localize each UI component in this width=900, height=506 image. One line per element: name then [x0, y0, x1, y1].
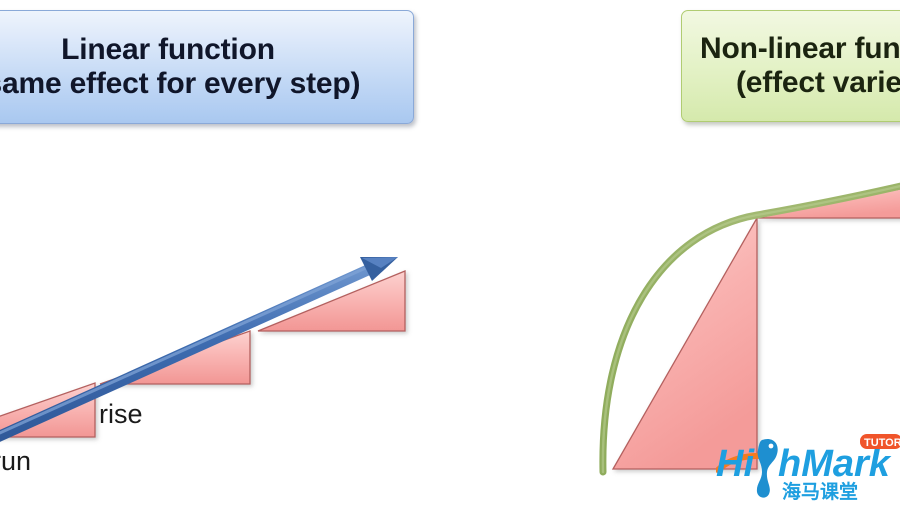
watermark-badge-text: TUTOR: [864, 437, 900, 449]
slide-canvas: Linear function (same effect for every s…: [0, 0, 900, 506]
rise-label: rise: [99, 399, 143, 430]
run-label: run: [0, 446, 31, 477]
watermark-brand-mark: hMark: [778, 443, 892, 485]
callout-nonlinear-line1: Non-linear function: [700, 32, 900, 66]
watermark-brand-high: Hi: [716, 443, 755, 485]
watermark-chinese: 海马课堂: [782, 480, 858, 502]
arrow-head: [360, 257, 398, 281]
nonlinear-slope-triangle-2: [757, 188, 900, 218]
highmark-watermark: Hi hMark TUTOR 海马课堂: [716, 424, 900, 502]
seahorse-icon: [757, 439, 778, 498]
slope-triangle-2: [100, 331, 250, 384]
callout-linear-line1: Linear function: [61, 33, 275, 67]
callout-nonlinear-function: Non-linear function (effect varies): [681, 10, 900, 122]
callout-linear-function: Linear function (same effect for every s…: [0, 10, 414, 124]
callout-linear-line2: (same effect for every step): [0, 67, 360, 101]
slope-triangle-1: [0, 383, 95, 437]
callout-nonlinear-line2: (effect varies): [700, 66, 900, 100]
linear-trend-arrow: [0, 257, 398, 481]
tutor-badge: TUTOR: [860, 434, 900, 449]
slope-triangle-3: [258, 271, 405, 331]
